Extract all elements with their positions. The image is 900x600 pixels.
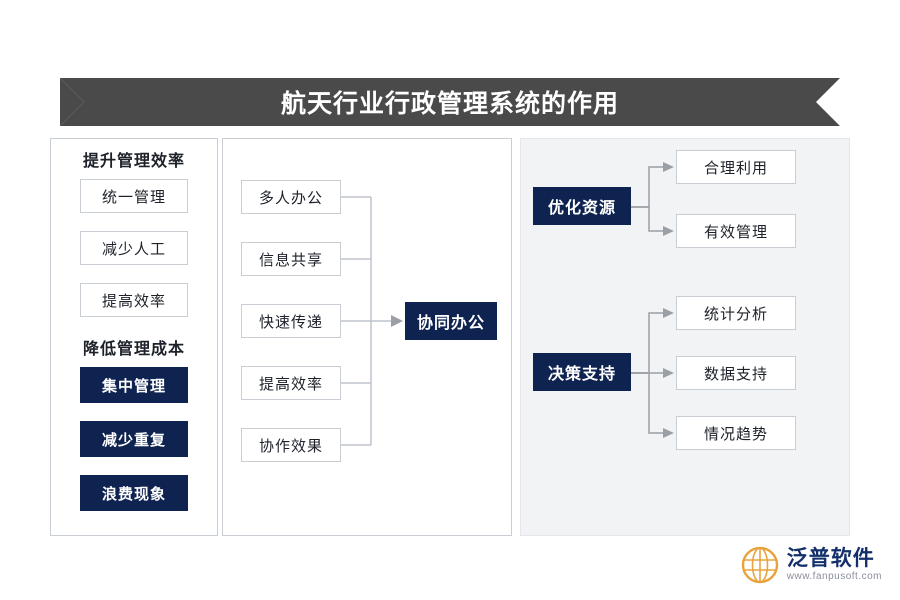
logo-text: 泛普软件 www.fanpusoft.com [787,548,882,581]
left-box-improve-efficiency[interactable]: 提高效率 [80,283,188,317]
mid-box-multi-person-office[interactable]: 多人办公 [241,180,341,214]
right-box-effective-management[interactable]: 有效管理 [676,214,796,248]
mid-box-improve-efficiency[interactable]: 提高效率 [241,366,341,400]
left-box-unified-management[interactable]: 统一管理 [80,179,188,213]
right-box-situation-trend[interactable]: 情况趋势 [676,416,796,450]
left-box-centralized-management[interactable]: 集中管理 [80,367,188,403]
left-heading-1: 提升管理效率 [51,147,217,171]
mid-box-fast-transfer[interactable]: 快速传递 [241,304,341,338]
right-box-decision-support[interactable]: 决策支持 [533,353,631,391]
right-panel: 优化资源 合理利用 有效管理 决策支持 统计分析 数据支持 情况趋势 [520,138,850,536]
right-box-rational-use[interactable]: 合理利用 [676,150,796,184]
company-logo: 泛普软件 www.fanpusoft.com [741,546,882,584]
left-heading-2: 降低管理成本 [51,335,217,359]
title-banner: 航天行业行政管理系统的作用 [60,78,840,126]
left-box-reduce-manual[interactable]: 减少人工 [80,231,188,265]
mid-box-information-sharing[interactable]: 信息共享 [241,242,341,276]
logo-domain: www.fanpusoft.com [787,571,882,582]
right-box-statistical-analysis[interactable]: 统计分析 [676,296,796,330]
left-panel: 提升管理效率 统一管理 减少人工 提高效率 降低管理成本 集中管理 减少重复 浪… [50,138,218,536]
mid-box-collaboration-effect[interactable]: 协作效果 [241,428,341,462]
logo-company-name: 泛普软件 [787,548,882,570]
arrow-head-to-collaboration [391,315,403,327]
left-box-waste-phenomenon[interactable]: 浪费现象 [80,475,188,511]
right-box-data-support[interactable]: 数据支持 [676,356,796,390]
left-box-reduce-duplication[interactable]: 减少重复 [80,421,188,457]
middle-panel: 多人办公 信息共享 快速传递 提高效率 协作效果 协同办公 泛普软件 [222,138,512,536]
right-box-optimize-resources[interactable]: 优化资源 [533,187,631,225]
mid-box-collaborative-office[interactable]: 协同办公 [405,302,497,340]
page-title: 航天行业行政管理系统的作用 [60,78,840,126]
logo-globe-icon [741,546,779,584]
diagram-page: 航天行业行政管理系统的作用 提升管理效率 统一管理 减少人工 提高效率 降低管理… [0,0,900,600]
